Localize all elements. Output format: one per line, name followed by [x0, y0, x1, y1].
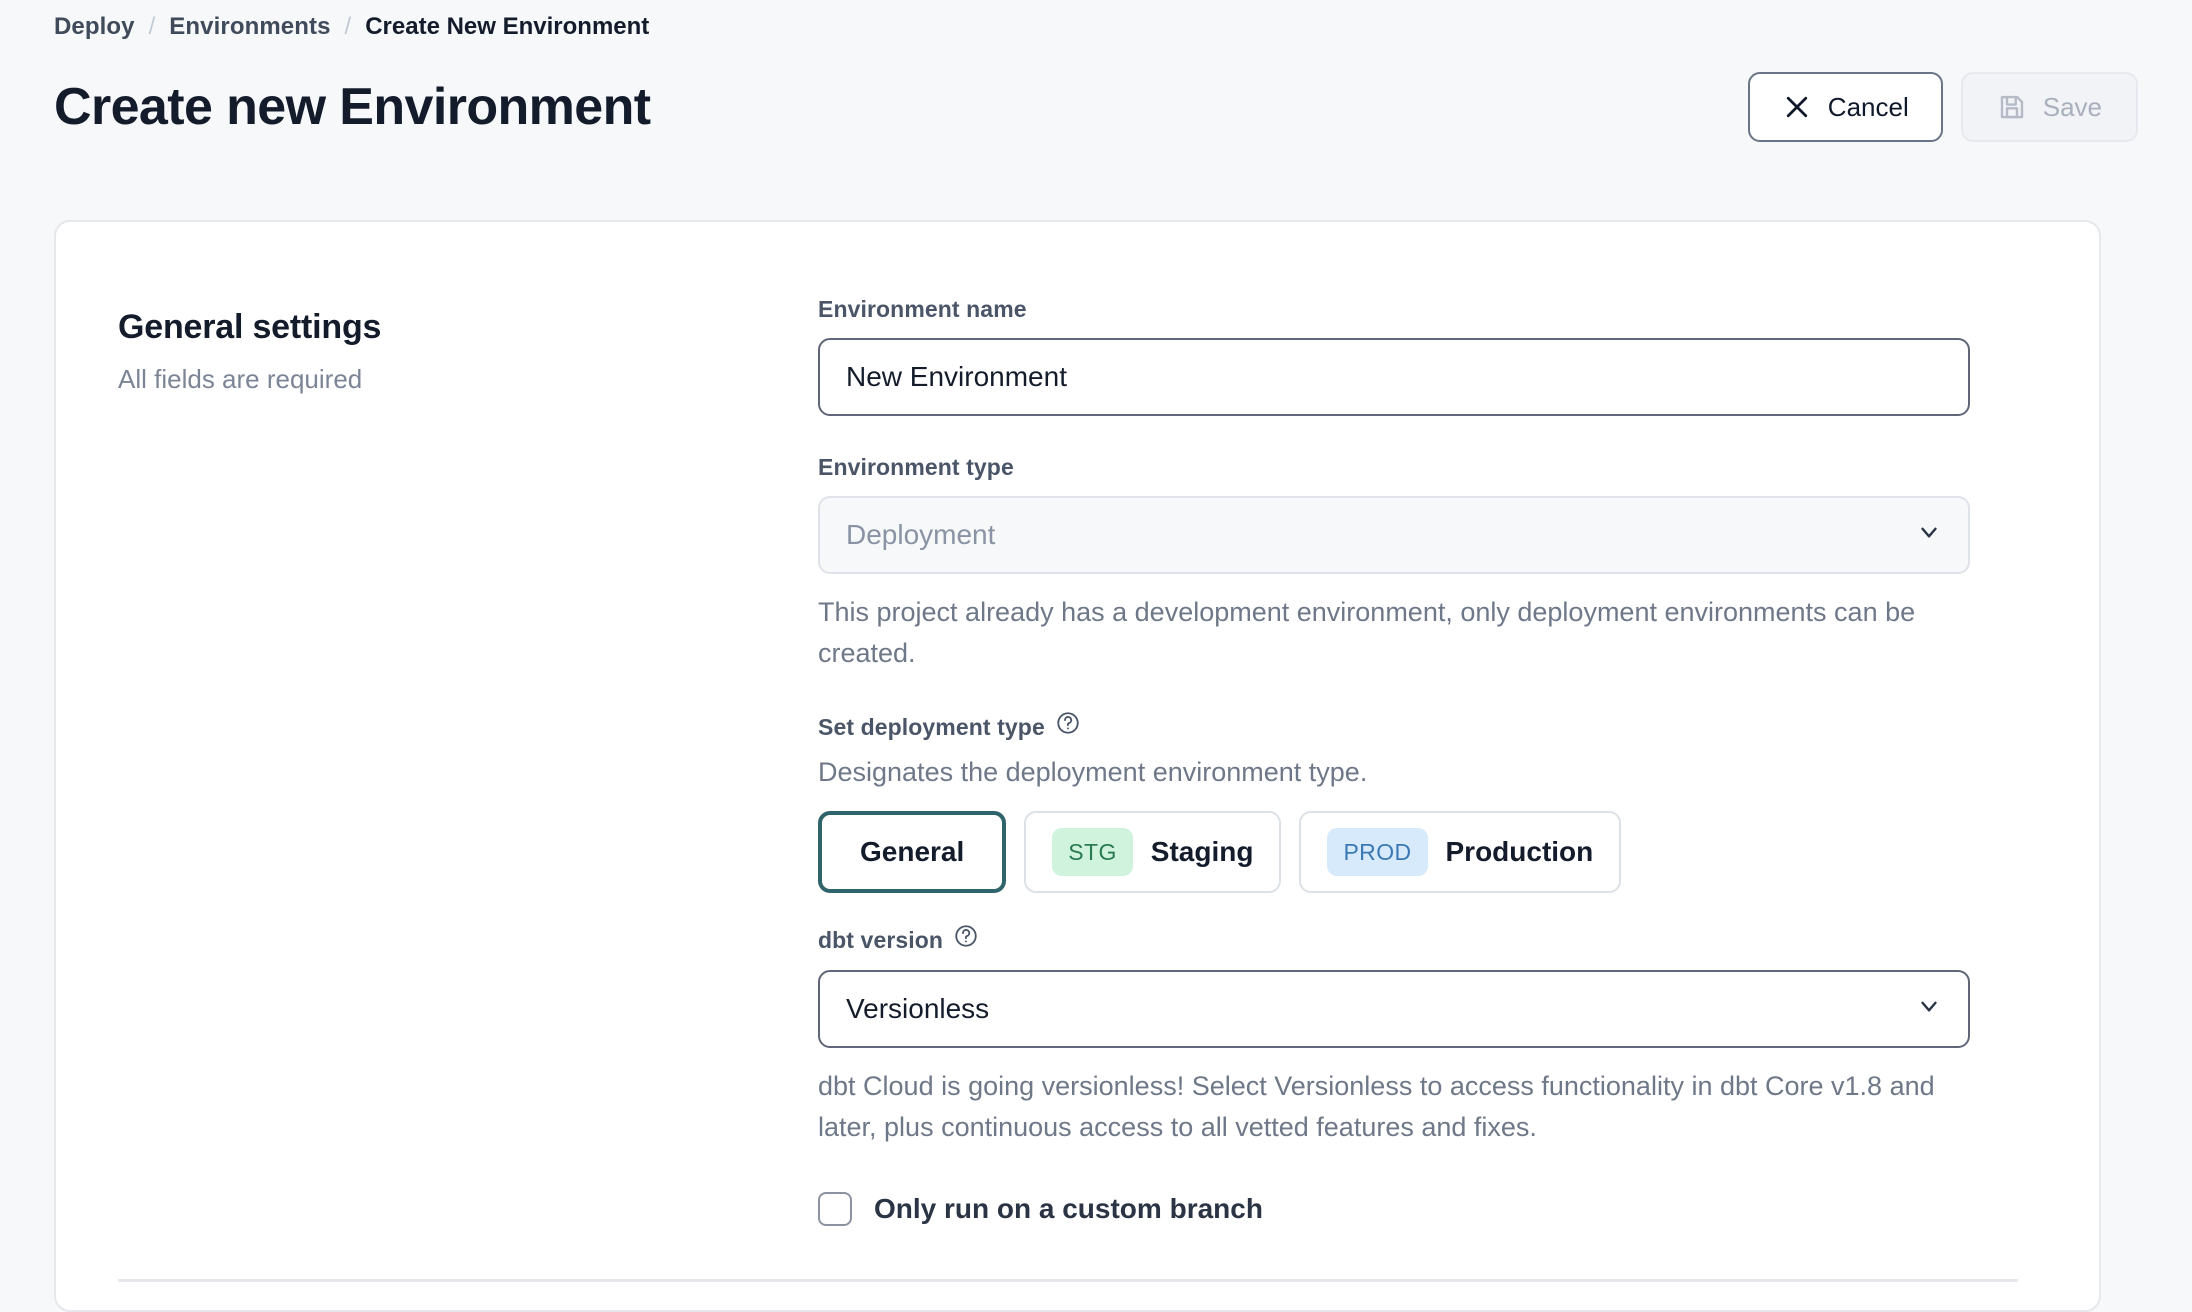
deployment-type-label: Set deployment type — [818, 710, 1978, 743]
dbt-version-label: dbt version — [818, 923, 1978, 956]
page-title: Create new Environment — [54, 78, 651, 136]
breadcrumb-item-current: Create New Environment — [365, 10, 649, 44]
chevron-down-icon — [1916, 993, 1942, 1026]
dbt-version-select[interactable]: Versionless — [818, 970, 1970, 1048]
custom-branch-label[interactable]: Only run on a custom branch — [874, 1193, 1263, 1225]
card-section-divider — [118, 1279, 2018, 1282]
environment-type-field: Environment type Deployment This project… — [818, 452, 1978, 674]
deployment-type-option-production-label: Production — [1446, 836, 1594, 868]
page-header: Deploy / Environments / Create New Envir… — [0, 0, 2192, 196]
breadcrumb-item-environments[interactable]: Environments — [169, 10, 330, 44]
environment-type-select[interactable]: Deployment — [818, 496, 1970, 574]
breadcrumb-item-deploy[interactable]: Deploy — [54, 10, 135, 44]
save-button-label: Save — [2043, 92, 2102, 123]
production-badge: PROD — [1327, 828, 1427, 876]
general-settings-column: General settings All fields are required — [118, 294, 818, 1226]
dbt-version-field: dbt version Versionless — [818, 923, 1978, 1148]
dbt-version-help-text: dbt Cloud is going versionless! Select V… — [818, 1066, 1938, 1148]
deployment-type-option-staging[interactable]: STG Staging — [1024, 811, 1281, 893]
environment-type-value: Deployment — [846, 519, 1916, 551]
card-inner: General settings All fields are required… — [56, 222, 2099, 1226]
header-actions: Cancel Save — [1748, 72, 2138, 142]
create-environment-page: Deploy / Environments / Create New Envir… — [0, 0, 2192, 1312]
environment-type-help-text: This project already has a development e… — [818, 592, 1938, 674]
dbt-version-label-text: dbt version — [818, 925, 943, 955]
breadcrumb-separator-icon: / — [149, 10, 156, 44]
deployment-type-description: Designates the deployment environment ty… — [818, 753, 1978, 791]
spacer — [818, 893, 1978, 923]
breadcrumb-separator-icon: / — [345, 10, 352, 44]
chevron-down-icon — [1916, 519, 1942, 552]
form-column: Environment name New Environment Environ… — [818, 294, 1978, 1226]
question-circle-icon[interactable] — [1055, 710, 1081, 743]
deployment-type-field: Set deployment type Designates the deplo… — [818, 710, 1978, 893]
custom-branch-checkbox[interactable] — [818, 1192, 852, 1226]
environment-type-label: Environment type — [818, 452, 1978, 482]
environment-name-field: Environment name New Environment — [818, 294, 1978, 416]
dbt-version-value: Versionless — [846, 993, 1916, 1025]
spacer — [818, 416, 1978, 452]
cancel-button[interactable]: Cancel — [1748, 72, 1943, 142]
deployment-type-label-text: Set deployment type — [818, 712, 1045, 742]
title-row: Create new Environment Cancel — [54, 72, 2138, 142]
save-button[interactable]: Save — [1961, 72, 2138, 142]
spacer — [818, 674, 1978, 710]
general-settings-card: General settings All fields are required… — [54, 220, 2101, 1312]
staging-badge: STG — [1052, 828, 1132, 876]
deployment-type-option-general-label: General — [860, 836, 964, 868]
environment-name-input[interactable]: New Environment — [818, 338, 1970, 416]
deployment-type-option-general[interactable]: General — [818, 811, 1006, 893]
environment-name-label: Environment name — [818, 294, 1978, 324]
breadcrumb: Deploy / Environments / Create New Envir… — [54, 0, 2138, 44]
cancel-button-label: Cancel — [1828, 92, 1909, 123]
section-subtitle: All fields are required — [118, 362, 818, 396]
custom-branch-row: Only run on a custom branch — [818, 1192, 1978, 1226]
question-circle-icon[interactable] — [953, 923, 979, 956]
deployment-type-option-production[interactable]: PROD Production — [1299, 811, 1621, 893]
section-title: General settings — [118, 306, 818, 348]
deployment-type-option-staging-label: Staging — [1151, 836, 1254, 868]
close-icon — [1782, 92, 1812, 122]
deployment-type-options: General STG Staging PROD Production — [818, 811, 1978, 893]
save-floppy-icon — [1997, 92, 2027, 122]
